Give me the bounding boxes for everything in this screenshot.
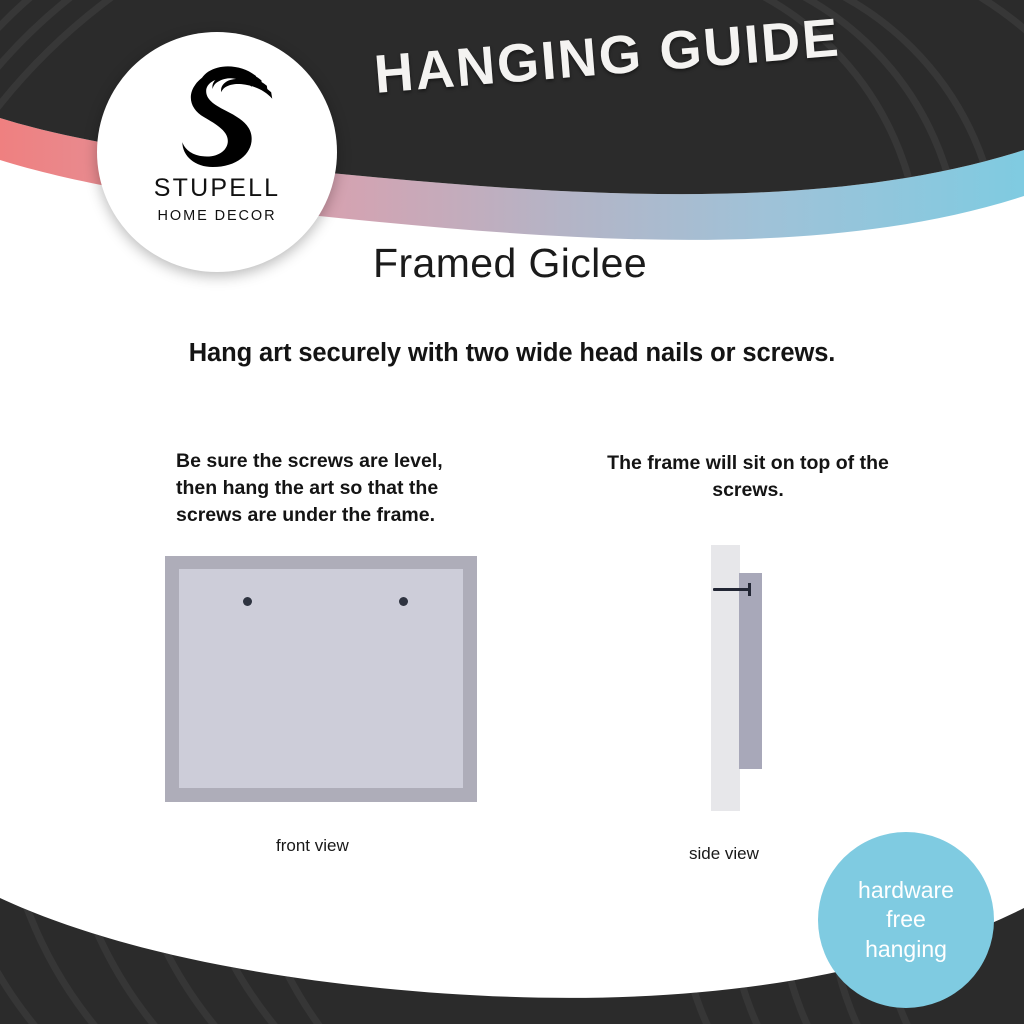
logo-brand-subtitle: HOME DECOR xyxy=(158,209,277,224)
badge-line-1: hardware xyxy=(858,876,954,905)
side-view-wall xyxy=(711,545,740,811)
side-view-label: side view xyxy=(689,844,759,864)
badge-line-3: hanging xyxy=(865,935,947,964)
screw-dot-right-icon xyxy=(399,597,408,606)
side-view-frame xyxy=(739,573,762,769)
screw-head-icon xyxy=(748,583,751,596)
screw-shaft-icon xyxy=(713,588,750,591)
front-view-label: front view xyxy=(276,836,349,856)
product-type-title: Framed Giclee xyxy=(373,240,647,287)
logo-brand-name: STUPELL xyxy=(154,176,281,201)
side-view-frame-diagram xyxy=(680,535,810,825)
front-view-frame-interior xyxy=(179,569,463,788)
brand-logo-badge: STUPELL HOME DECOR xyxy=(97,32,337,272)
front-view-frame-diagram xyxy=(165,556,477,802)
hardware-free-hanging-badge: hardware free hanging xyxy=(818,832,994,1008)
front-view-caption: Be sure the screws are level, then hang … xyxy=(176,448,476,529)
stupell-s-swoosh-icon xyxy=(152,50,282,180)
screw-dot-left-icon xyxy=(243,597,252,606)
hanging-guide-page: STUPELL HOME DECOR HANGING GUIDE Framed … xyxy=(0,0,1024,1024)
page-title: HANGING GUIDE xyxy=(372,7,842,106)
badge-line-2: free xyxy=(886,905,926,934)
side-view-caption: The frame will sit on top of the screws. xyxy=(603,450,893,504)
main-instruction-text: Hang art securely with two wide head nai… xyxy=(0,339,1024,368)
